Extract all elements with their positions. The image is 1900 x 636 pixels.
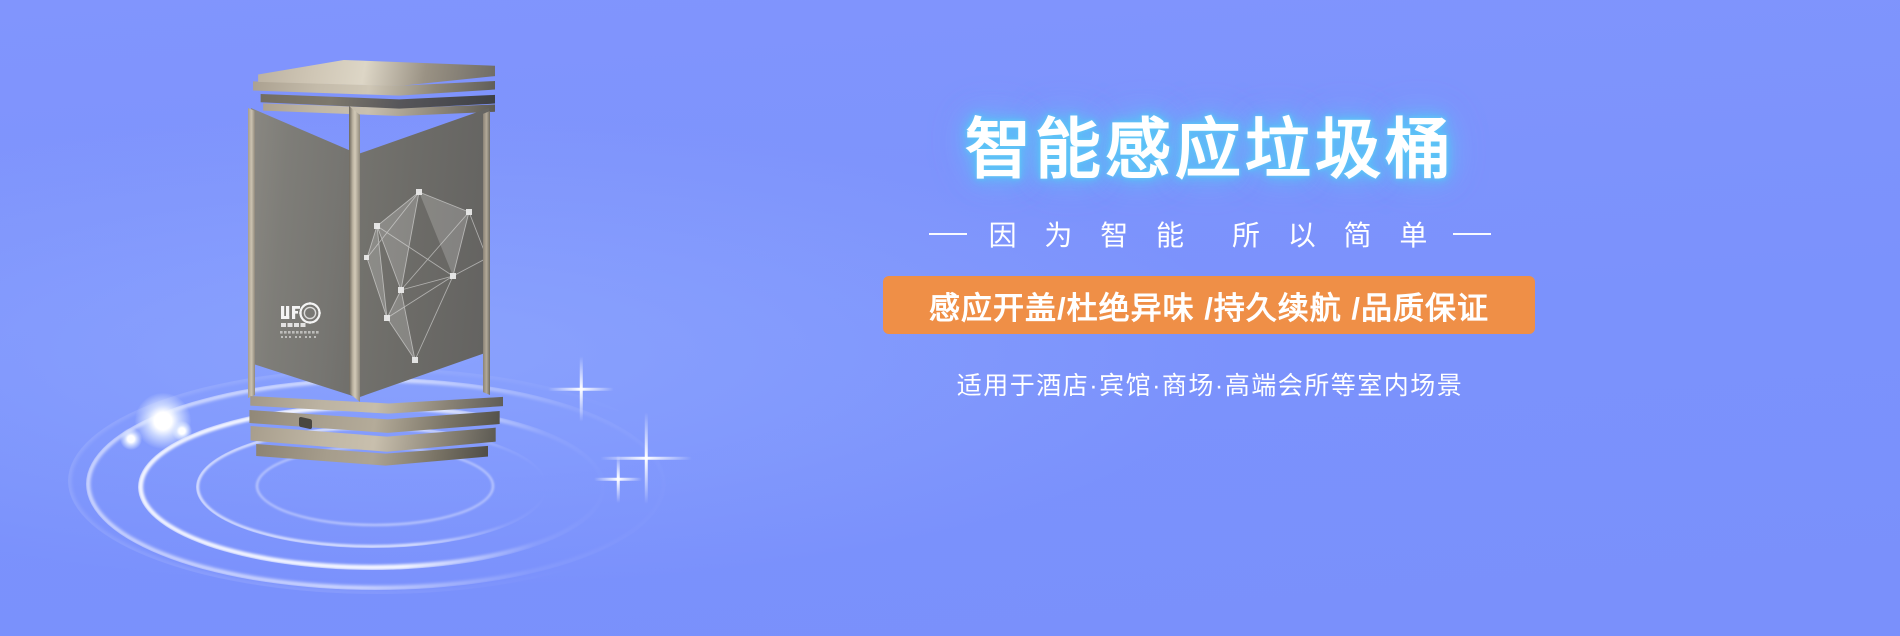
bin-left-edge-trim [248, 108, 255, 398]
feature-highlight-text: 感应开盖/杜绝异味 /持久续航 /品质保证 [929, 283, 1489, 328]
bin-face-left [251, 108, 359, 398]
subtitle-text: 因 为 智 能 所 以 简 单 [983, 214, 1438, 254]
network-mesh-graphic-icon [357, 108, 489, 398]
feature-highlight-bar: 感应开盖/杜绝异味 /持久续航 /品质保证 [883, 276, 1535, 334]
subtitle-rule-left [929, 233, 967, 235]
glow-orb-tiny-icon [172, 421, 192, 441]
product-stage [0, 0, 760, 636]
brand-logo-ufo-icon [279, 300, 339, 346]
subtitle-rule-right [1453, 233, 1491, 235]
bin-body [243, 108, 495, 408]
page-title: 智能感应垃圾桶 [880, 116, 1540, 182]
product-promo-banner: 智能感应垃圾桶 因 为 智 能 所 以 简 单 感应开盖/杜绝异味 /持久续航 … [0, 0, 1900, 636]
bin-corner-rail [349, 106, 360, 402]
usage-scenes-text: 适用于酒店·宾馆·商场·高端会所等室内场景 [880, 366, 1540, 402]
subtitle-row: 因 为 智 能 所 以 简 单 [880, 214, 1540, 254]
glow-orb-small-icon [120, 428, 142, 450]
product-image-trash-bin [243, 60, 495, 428]
bin-base-plinth [237, 396, 503, 486]
marketing-copy-block: 智能感应垃圾桶 因 为 智 能 所 以 简 单 感应开盖/杜绝异味 /持久续航 … [880, 0, 1880, 636]
bin-right-edge-trim [483, 111, 490, 395]
base-sensor-slot [299, 417, 312, 430]
cap-top-surface [243, 60, 495, 86]
